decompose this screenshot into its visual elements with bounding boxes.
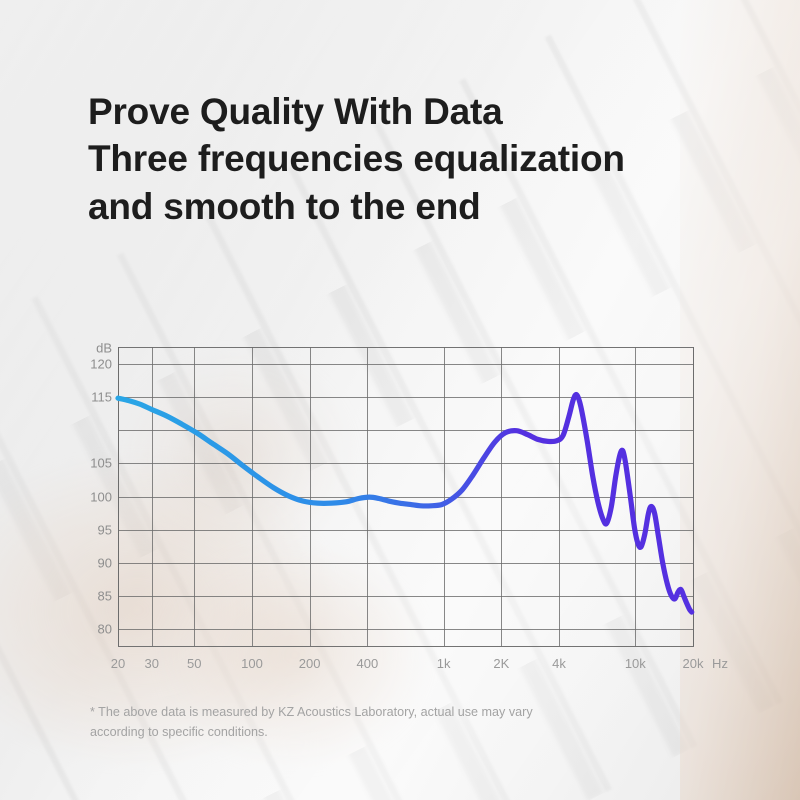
frequency-response-chart: dB12011510510095908580 2030501002004001k… [0, 330, 800, 680]
x-axis-tick-label: 100 [241, 656, 263, 671]
x-axis-unit: Hz [712, 656, 728, 671]
x-axis-tick-label: 10k [625, 656, 646, 671]
x-axis-tick-label: 1k [437, 656, 451, 671]
x-axis-tick-label: 400 [357, 656, 379, 671]
x-axis-tick-label: 20 [111, 656, 125, 671]
x-axis-tick-label: 2K [493, 656, 509, 671]
x-axis-tick-label: 30 [145, 656, 159, 671]
page-title: Prove Quality With Data Three frequencie… [88, 88, 748, 230]
x-axis-tick-label: 50 [187, 656, 201, 671]
disclaimer-line-1: * The above data is measured by KZ Acous… [90, 703, 630, 723]
x-axis-labels: 2030501002004001k2K4k10k20kHz [0, 330, 800, 680]
headline-line-3: and smooth to the end [88, 183, 748, 230]
x-axis-tick-label: 4k [552, 656, 566, 671]
disclaimer-line-2: according to specific conditions. [90, 723, 630, 743]
headline-line-1: Prove Quality With Data [88, 88, 748, 135]
x-axis-tick-label: 20k [683, 656, 704, 671]
headline-line-2: Three frequencies equalization [88, 135, 748, 182]
x-axis-tick-label: 200 [299, 656, 321, 671]
marketing-slide: Prove Quality With Data Three frequencie… [0, 0, 800, 800]
disclaimer-note: * The above data is measured by KZ Acous… [90, 703, 630, 742]
